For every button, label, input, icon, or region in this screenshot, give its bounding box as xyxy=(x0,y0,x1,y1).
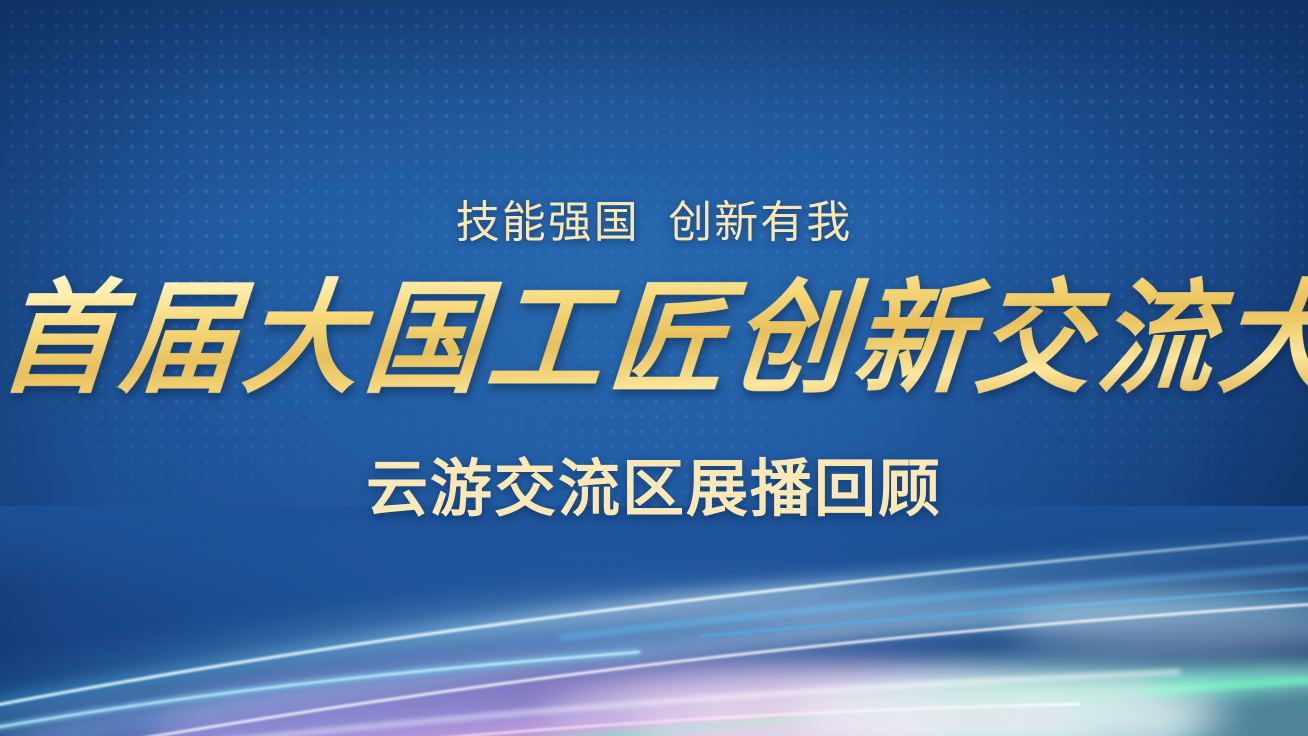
poster-tagline: 技能强国 创新有我 xyxy=(0,186,1308,250)
poster-main-title: 首届大国工匠创新交流大会 xyxy=(0,272,1308,406)
poster-subtitle: 云游交流区展播回顾 xyxy=(0,438,1308,528)
light-streak-ribbons xyxy=(0,506,1308,736)
poster-main-title-wrap: 首届大国工匠创新交流大会 xyxy=(0,276,1308,406)
poster-canvas: 技能强国 创新有我 首届大国工匠创新交流大会 云游交流区展播回顾 xyxy=(0,0,1308,736)
